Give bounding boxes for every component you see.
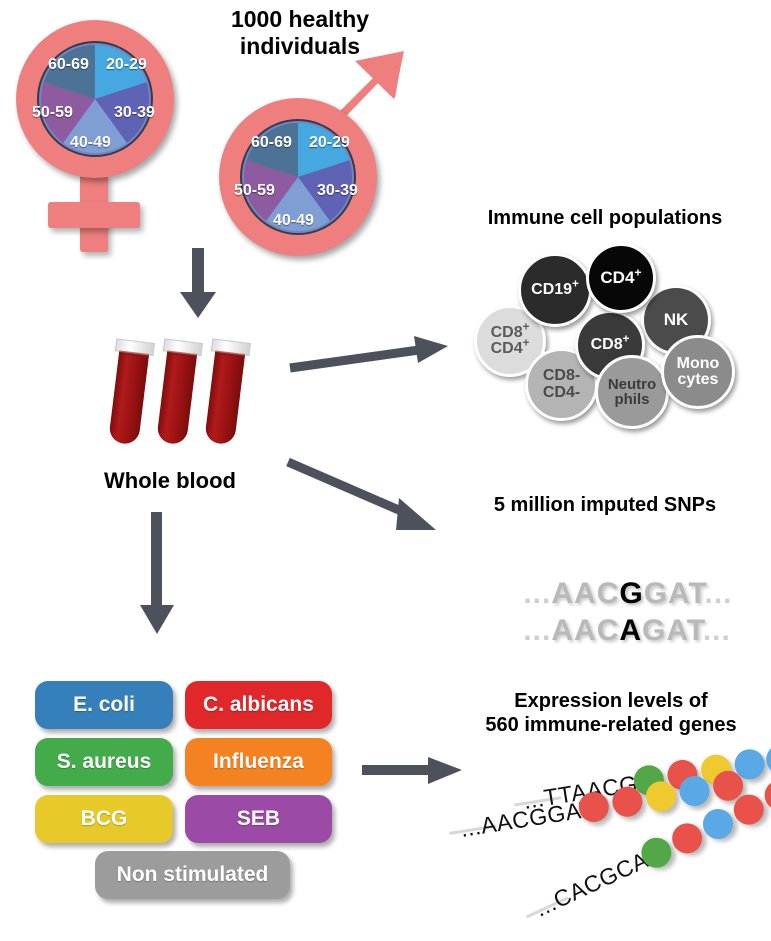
stimulus-label: BCG xyxy=(81,807,128,831)
cell-label-line1: Mono xyxy=(677,356,720,372)
female-pie-label-40-49: 40-49 xyxy=(70,134,111,152)
male-gender-symbol: 20-29 30-39 40-49 50-59 60-69 xyxy=(205,36,420,256)
arrow-blood-to-snps xyxy=(286,458,451,543)
stimulus-label: Influenza xyxy=(213,750,304,774)
cell-label-line2: phils xyxy=(608,392,656,407)
stimulus-pill-c-albicans[interactable]: C. albicans xyxy=(185,681,332,729)
arrow-blood-to-stimuli xyxy=(137,512,177,637)
cell-cd4pos: CD4+ xyxy=(586,243,656,313)
male-pie-label-60-69: 60-69 xyxy=(251,134,292,152)
expression-header: Expression levels of 560 immune-related … xyxy=(455,690,767,737)
snp-prefix: ... xyxy=(523,614,551,647)
cell-neutrophils: Neutro phils xyxy=(595,355,669,429)
female-gender-symbol: 20-29 30-39 40-49 50-59 60-69 xyxy=(8,14,208,244)
snp-post: GAT xyxy=(642,614,703,647)
cell-label-line1: CD8- xyxy=(543,368,580,384)
cell-label-line1: NK xyxy=(664,311,689,328)
arrow-blood-to-immune-cells xyxy=(288,330,453,380)
cell-label-line1: CD8+ xyxy=(491,325,530,341)
expression-dot xyxy=(764,742,771,776)
stimulus-pill-seb[interactable]: SEB xyxy=(185,795,332,843)
cell-label-line2: CD4+ xyxy=(491,341,530,357)
stimulus-pill-e-coli[interactable]: E. coli xyxy=(35,681,173,729)
female-pie-label-20-29: 20-29 xyxy=(106,56,147,74)
cell-monocytes: Mono cytes xyxy=(661,335,735,409)
female-symbol-crossbar xyxy=(48,202,140,228)
snp-suffix: ... xyxy=(703,614,731,647)
female-pie-label-30-39: 30-39 xyxy=(114,104,155,122)
cell-label-line2: CD4- xyxy=(543,385,580,401)
cell-label-line1: Neutro xyxy=(608,377,656,392)
blood-tubes xyxy=(100,335,260,460)
snp-pre: AAC xyxy=(551,614,619,647)
cell-cd8pos: CD8+ xyxy=(575,310,645,380)
expression-header-line1: Expression levels of xyxy=(455,690,767,714)
immune-cells-header: Immune cell populations xyxy=(450,207,760,231)
stimulus-label: C. albicans xyxy=(203,693,314,717)
snp-sequence-row-2: ...AACAGAT... xyxy=(486,580,731,682)
stimulus-pill-influenza[interactable]: Influenza xyxy=(185,738,332,786)
whole-blood-label: Whole blood xyxy=(60,468,280,494)
male-pie-label-30-39: 30-39 xyxy=(317,182,358,200)
stimulus-pill-bcg[interactable]: BCG xyxy=(35,795,173,843)
male-pie-label-50-59: 50-59 xyxy=(234,182,275,200)
female-pie-label-50-59: 50-59 xyxy=(32,104,73,122)
cell-label-line1: CD4+ xyxy=(600,269,641,286)
stimulus-label: SEB xyxy=(237,807,280,831)
female-pie-label-60-69: 60-69 xyxy=(48,56,89,74)
snps-header: 5 million imputed SNPs xyxy=(455,494,755,518)
cell-nk: NK xyxy=(641,285,711,355)
figure-canvas: 1000 healthy individuals 20-29 30-39 40-… xyxy=(0,0,771,922)
arrow-cohort-to-blood xyxy=(178,248,218,320)
snp-variant-allele: A xyxy=(619,614,642,647)
stimulus-label: Non stimulated xyxy=(117,863,269,887)
cell-cd8pos-cd4pos: CD8+ CD4+ xyxy=(474,305,546,377)
arrow-stimuli-to-expression xyxy=(362,755,467,789)
cell-cd19pos: CD19+ xyxy=(518,253,592,327)
page-title-line1: 1000 healthy xyxy=(170,6,430,33)
cell-cd8neg-cd4neg: CD8- CD4- xyxy=(525,348,598,421)
expression-header-line2: 560 immune-related genes xyxy=(455,714,767,738)
stimulus-pill-non-stimulated[interactable]: Non stimulated xyxy=(95,851,290,899)
male-pie-label-20-29: 20-29 xyxy=(309,134,350,152)
cell-label-line2: cytes xyxy=(677,372,720,388)
male-pie-label-40-49: 40-49 xyxy=(273,212,314,230)
stimulus-label: S. aureus xyxy=(57,750,152,774)
cell-label-line1: CD19+ xyxy=(531,282,579,298)
stimulus-pill-s-aureus[interactable]: S. aureus xyxy=(35,738,173,786)
cell-label-line1: CD8+ xyxy=(591,337,630,353)
stimulus-label: E. coli xyxy=(73,693,135,717)
